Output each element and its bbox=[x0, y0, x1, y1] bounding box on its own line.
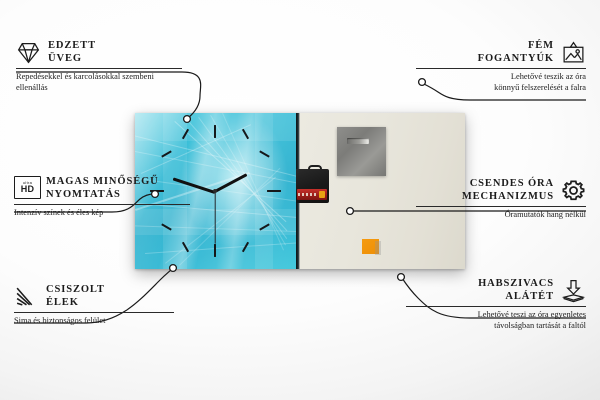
feature-title: CSENDES ÓRAMECHANIZMUS bbox=[462, 178, 554, 203]
feature-polished-edges: CSISZOLTÉLEK Sima és biztonságos felület bbox=[14, 284, 174, 327]
feature-description: Lehetővé teszik az órakönnyű felszerelés… bbox=[416, 72, 586, 93]
feature-title: MAGAS MINŐSÉGŰNYOMTATÁS bbox=[46, 176, 159, 201]
feature-description: Lehetővé teszi az óra egyenletestávolság… bbox=[406, 310, 586, 331]
divider bbox=[406, 306, 586, 307]
foam-pad bbox=[362, 239, 379, 254]
connector-dot bbox=[398, 274, 405, 281]
feature-title: HABSZIVACSALÁTÉT bbox=[478, 278, 554, 303]
feature-metal-hangers: FÉMFOGANTYÚK Lehetővé teszik az órakönny… bbox=[416, 40, 586, 93]
clock-second-hand bbox=[214, 192, 215, 244]
clock-marker bbox=[214, 125, 216, 138]
feature-title: EDZETTÜVEG bbox=[48, 40, 96, 65]
diagonal-lines-icon bbox=[14, 284, 39, 309]
feature-high-quality-print: ultra HD MAGAS MINŐSÉGŰNYOMTATÁS Intenzí… bbox=[14, 176, 190, 219]
hanger-slot bbox=[347, 138, 369, 144]
divider bbox=[14, 312, 174, 313]
feature-foam-pad: HABSZIVACSALÁTÉT Lehetővé teszi az óra e… bbox=[406, 278, 586, 331]
clock-mechanism bbox=[296, 165, 331, 203]
divider bbox=[16, 68, 182, 69]
infographic-canvas: EDZETTÜVEG Repedésekkel és karcolásokkal… bbox=[0, 0, 600, 400]
feature-description: Sima és biztonságos felület bbox=[14, 316, 174, 327]
divider bbox=[14, 204, 190, 205]
battery bbox=[297, 189, 327, 200]
feature-title: FÉMFOGANTYÚK bbox=[478, 40, 554, 65]
divider bbox=[416, 68, 586, 69]
down-arrow-stack-icon bbox=[561, 278, 586, 303]
feature-silent-mechanism: CSENDES ÓRAMECHANIZMUS Óramutatók hang n… bbox=[416, 178, 586, 221]
feature-tempered-glass: EDZETTÜVEG Repedésekkel és karcolásokkal… bbox=[16, 40, 182, 93]
clock-center-pin bbox=[213, 189, 217, 193]
feature-description: Intenzív színek és éles kép bbox=[14, 208, 190, 219]
diamond-icon bbox=[16, 40, 41, 65]
feature-description: Óramutatók hang nélkül bbox=[416, 210, 586, 221]
gear-icon bbox=[561, 178, 586, 203]
framed-picture-hanger-icon bbox=[561, 40, 586, 65]
feature-title: CSISZOLTÉLEK bbox=[46, 284, 105, 309]
ultra-hd-icon: ultra HD bbox=[14, 176, 39, 201]
clock-marker bbox=[214, 244, 216, 257]
metal-hanger-plate bbox=[337, 127, 386, 176]
feature-description: Repedésekkel és karcolásokkal szembeni e… bbox=[16, 72, 182, 93]
divider bbox=[416, 206, 586, 207]
